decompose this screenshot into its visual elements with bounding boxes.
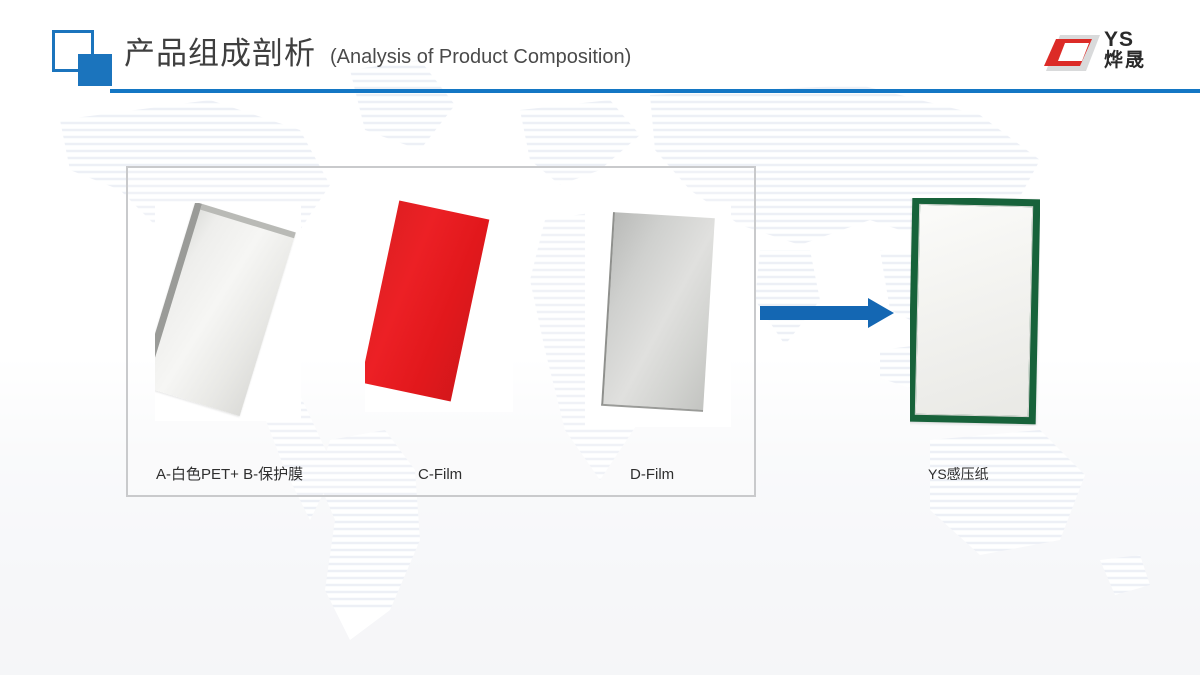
product-photo-a-b [155, 203, 301, 421]
white-pet-sheet-image [155, 203, 296, 416]
company-logo: YS 烨晟 [1042, 28, 1192, 80]
slide-canvas: 产品组成剖析 (Analysis of Product Composition)… [0, 0, 1200, 675]
product-photo-c [365, 200, 513, 412]
logo-chinese-text: 烨晟 [1104, 51, 1146, 70]
page-title: 产品组成剖析 [124, 38, 316, 69]
sheet-edge-highlight [200, 204, 295, 238]
caption-c: C-Film [418, 467, 462, 482]
process-arrow-icon [760, 297, 894, 329]
caption-a-b: A-白色PET+ B-保护膜 [156, 467, 303, 482]
header-divider [110, 89, 1200, 93]
red-film-image [365, 200, 489, 401]
caption-result: YS感压纸 [928, 467, 989, 481]
logo-latin-text: YS [1104, 29, 1134, 50]
ys-pressure-paper-image [910, 198, 1040, 424]
slide-header: 产品组成剖析 (Analysis of Product Composition)… [0, 0, 1200, 100]
caption-d: D-Film [630, 467, 674, 482]
logo-mark-icon [1042, 32, 1104, 74]
product-photo-result [910, 198, 1040, 426]
ys-paper-surface [915, 204, 1033, 417]
decorative-squares-icon [52, 30, 112, 85]
gray-film-image [601, 212, 715, 412]
product-photo-d [585, 203, 731, 427]
page-subtitle: (Analysis of Product Composition) [330, 47, 631, 67]
logo-wordmark: YS 烨晟 [1104, 29, 1194, 77]
filled-square-icon [78, 54, 112, 86]
